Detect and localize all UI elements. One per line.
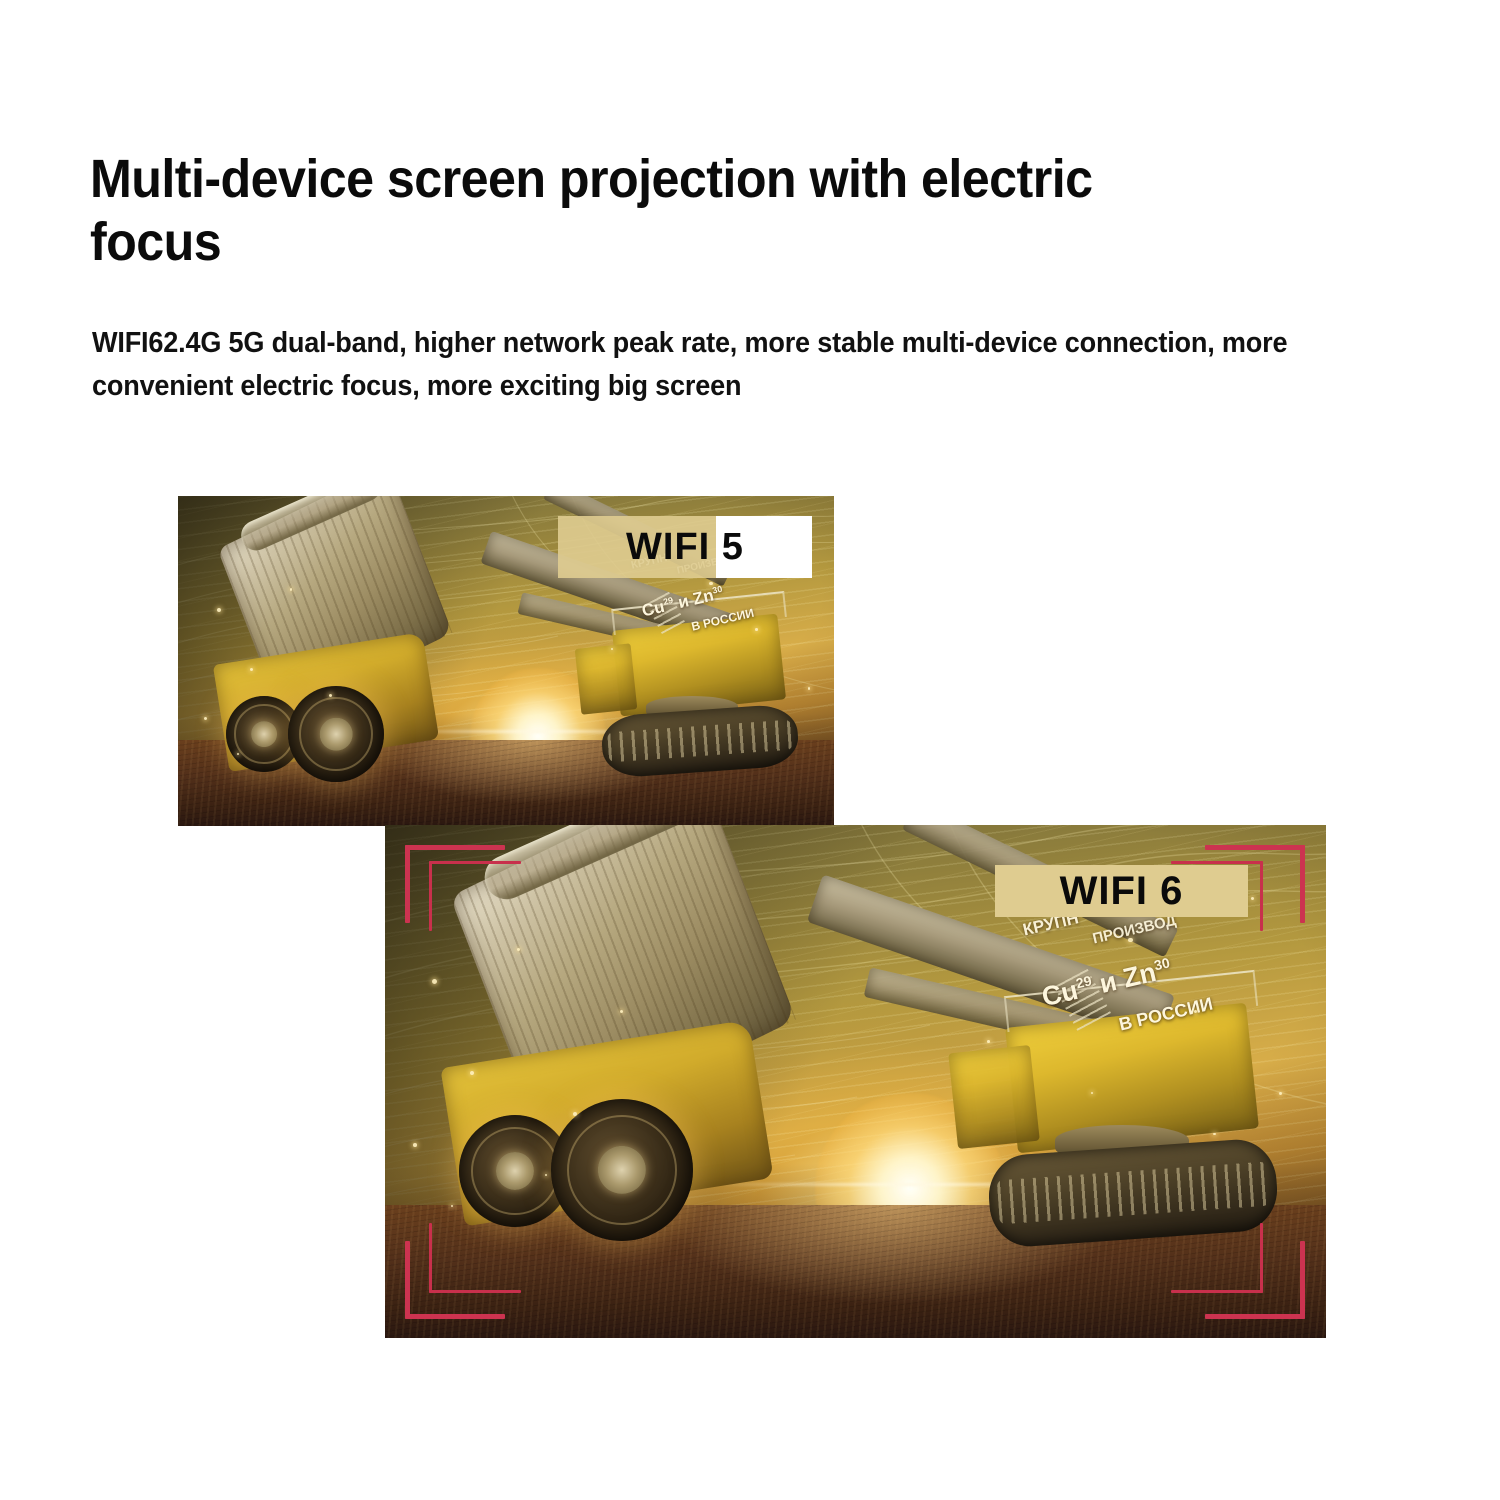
wifi6-badge: WIFI 6 — [995, 865, 1248, 917]
page-subtitle: WIFI62.4G 5G dual-band, higher network p… — [92, 322, 1365, 409]
wifi5-badge-label: WIFI 5 — [626, 526, 744, 569]
wifi5-badge: WIFI 5 — [558, 516, 812, 578]
product-feature-page: Multi-device screen projection with elec… — [0, 0, 1500, 1500]
bracket-bottom-left-inner — [429, 1213, 525, 1293]
wifi6-badge-label: WIFI 6 — [1060, 869, 1184, 914]
wifi6-scene-image: КРУПН ПРОИЗВОД Cu29 и Zn30 В РОССИИ — [385, 825, 1326, 1338]
bracket-bottom-right-inner — [1167, 1213, 1263, 1293]
bracket-top-left-inner — [429, 861, 525, 941]
page-title: Multi-device screen projection with elec… — [90, 148, 1234, 274]
